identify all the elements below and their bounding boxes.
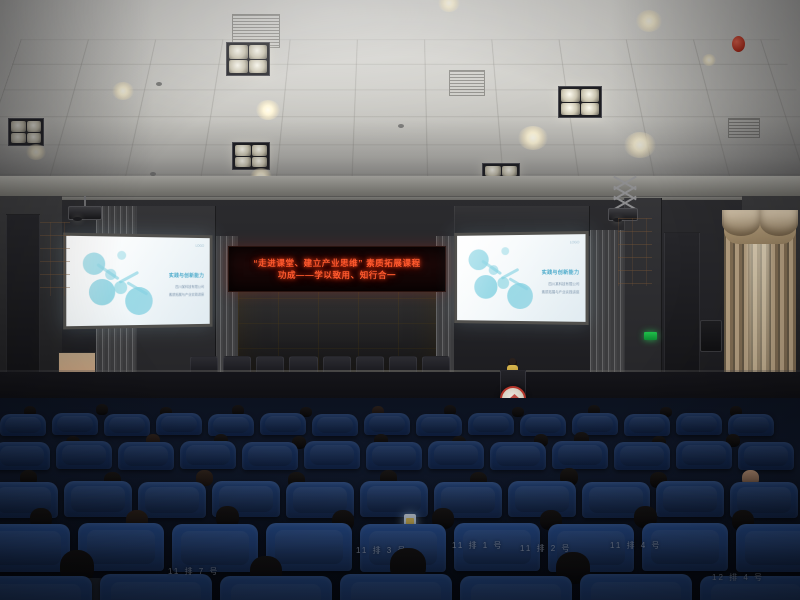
banner-line-2: 功成——学以致用、知行合一 <box>278 269 396 281</box>
seat <box>220 576 332 600</box>
seat <box>52 413 98 435</box>
seat <box>156 413 202 435</box>
seat-number-label: 11 排 1 号 <box>452 540 503 551</box>
seat <box>56 441 112 469</box>
seat <box>104 414 150 436</box>
curtain-valance <box>724 210 796 244</box>
molecule-node-icon <box>474 275 497 299</box>
slide-content-right: LOGO 实践与创新能力 四川某科技有限公司 素质拓展与产业实践讲座 <box>457 234 585 322</box>
molecule-node-icon <box>89 279 115 306</box>
slide-subtitle-2: 素质拓展与产业实践讲座 <box>169 293 204 299</box>
seat <box>624 414 670 436</box>
molecule-node-icon <box>497 277 509 289</box>
seat <box>242 442 298 470</box>
audience-head <box>512 407 524 417</box>
slide-subtitle-2: 素质拓展与产业实践讲座 <box>542 290 580 296</box>
seat <box>360 481 428 517</box>
molecule-node-icon <box>114 281 127 294</box>
seat <box>520 414 566 436</box>
molecule-node-icon <box>105 269 116 280</box>
window-blind-left <box>36 222 70 296</box>
molecule-node-icon <box>83 252 105 275</box>
seat <box>656 481 724 517</box>
seat <box>340 574 452 600</box>
window-blind-right <box>618 218 652 286</box>
seat <box>460 576 572 600</box>
seat <box>552 441 608 469</box>
seat <box>728 414 774 436</box>
molecule-node-icon <box>469 249 489 270</box>
seat <box>0 442 50 470</box>
molecule-node-icon <box>125 287 153 315</box>
window-daylight <box>748 238 770 388</box>
banner-line-1: “走进课堂、建立产业思维” 素质拓展课程 <box>253 257 420 269</box>
projector-left <box>68 206 102 220</box>
seat <box>64 481 132 517</box>
seat-number-label: 11 排 4 号 <box>610 540 661 551</box>
slide-subtitle-1: 四川某科技有限公司 <box>548 282 579 288</box>
left-projection-screen: LOGO 实践与创新能力 四川某科技有限公司 素质拓展与产业实践讲座 <box>63 233 212 330</box>
audience-area: 11 排 3 号 11 排 1 号 11 排 2 号 11 排 4 号 11 排… <box>0 398 800 600</box>
seat <box>172 524 258 572</box>
seat <box>364 413 410 435</box>
seat <box>416 414 462 436</box>
seat <box>490 442 546 470</box>
slide-content-left: LOGO 实践与创新能力 四川某科技有限公司 素质拓展与产业实践讲座 <box>66 236 209 327</box>
slide-logo: LOGO <box>570 240 579 244</box>
slide-logo: LOGO <box>195 244 204 248</box>
seat <box>0 414 46 436</box>
seat-number-label: 12 排 4 号 <box>712 572 764 583</box>
presenter-head <box>509 358 516 365</box>
seat-number-label: 11 排 7 号 <box>168 566 219 577</box>
seat <box>304 441 360 469</box>
seat <box>468 413 514 435</box>
seat <box>138 482 206 518</box>
seat <box>508 481 576 517</box>
seat <box>260 413 306 435</box>
slide-title: 实践与创新能力 <box>542 269 580 276</box>
molecule-node-icon <box>489 265 499 275</box>
seat <box>118 442 174 470</box>
seat <box>738 442 794 470</box>
seat <box>208 414 254 436</box>
seat <box>428 441 484 469</box>
seat <box>180 441 236 469</box>
seat <box>676 413 722 435</box>
right-projection-screen: LOGO 实践与创新能力 四川某科技有限公司 素质拓展与产业实践讲座 <box>454 231 588 325</box>
seat <box>736 524 800 572</box>
exit-sign-icon <box>644 332 657 340</box>
seat <box>580 574 692 600</box>
audience-head <box>96 404 108 415</box>
slide-title: 实践与创新能力 <box>169 272 204 279</box>
slide-subtitle-1: 四川某科技有限公司 <box>175 285 204 291</box>
molecule-node-icon <box>501 247 509 255</box>
seat <box>0 576 92 600</box>
seat <box>312 414 358 436</box>
led-banner: “走进课堂、建立产业思维” 素质拓展课程 功成——学以致用、知行合一 <box>228 246 446 292</box>
seat <box>366 442 422 470</box>
molecule-node-icon <box>117 251 126 260</box>
auditorium-photo: “走进课堂、建立产业思维” 素质拓展课程 功成——学以致用、知行合一 LOGO … <box>0 0 800 600</box>
seat <box>614 442 670 470</box>
seat-number-label: 11 排 2 号 <box>520 543 571 554</box>
seat <box>100 574 212 600</box>
wall-speaker-right <box>700 320 722 352</box>
seat <box>676 441 732 469</box>
molecule-node-icon <box>507 283 533 309</box>
